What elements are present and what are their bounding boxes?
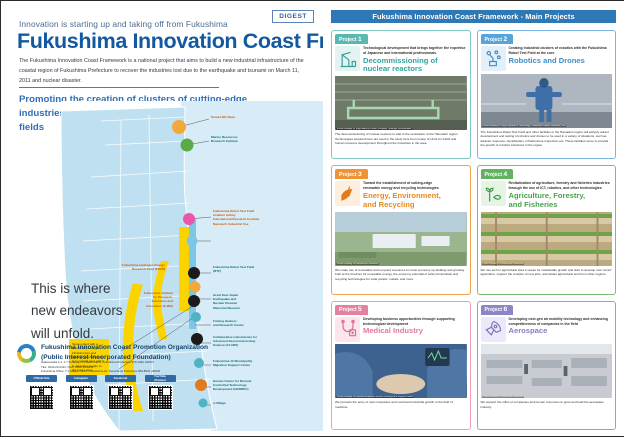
project-description: Developing business opportunities throug… bbox=[363, 317, 467, 327]
map-label: Fukushima 12 Municipality Migration Supp… bbox=[213, 359, 252, 367]
photo-credit: Photo courtesy of Tokyo Electric Power C… bbox=[336, 128, 412, 130]
projects-header: Fukushima Innovation Coast Framework - M… bbox=[331, 10, 616, 23]
sns-button-label[interactable]: YouTube Channel bbox=[145, 375, 176, 382]
project-photo-4: Photo courtesy of Fukushima Prefecture bbox=[481, 212, 613, 266]
project-card-4[interactable]: Project 4 Revitalization of agriculture,… bbox=[477, 165, 617, 294]
map-label: Marine Resources Research Institute bbox=[211, 135, 238, 143]
project-note: We use tech in agricultural sites in are… bbox=[481, 268, 613, 277]
project-note: We promote the entry of new companies an… bbox=[335, 400, 467, 409]
project-field: Medical Industry bbox=[363, 327, 467, 336]
sns-item-facebook[interactable]: Facebook bbox=[105, 375, 136, 410]
project-photo-3: Photo courtesy of Fukushima Prefecture bbox=[335, 212, 467, 266]
project-photo-1: Photo courtesy of Tokyo Electric Power C… bbox=[335, 76, 467, 130]
project-field: Robotics and Drones bbox=[509, 57, 613, 66]
map-label: Great East Japan Earthquake and Nuclear … bbox=[213, 293, 240, 310]
project-note: We make use of renewable and recycled re… bbox=[335, 268, 467, 282]
sns-button-label[interactable]: Facebook bbox=[105, 375, 136, 382]
page-title: Fukushima Innovation Coast Framework bbox=[17, 29, 323, 54]
lede-paragraph: The Fukushima Innovation Coast Framework… bbox=[19, 56, 309, 86]
project-word: Project bbox=[339, 37, 357, 43]
projects-grid: Project 1 Technological development that… bbox=[331, 30, 616, 430]
leaf-energy-icon bbox=[335, 181, 360, 206]
sns-links-row: Official Site Instagram Facebook YouTube… bbox=[26, 375, 176, 410]
project-number: 5 bbox=[358, 306, 362, 313]
qr-code-youtube[interactable] bbox=[148, 385, 173, 410]
sns-item-instagram[interactable]: Instagram bbox=[66, 375, 97, 410]
map-label: Human Center for Remote Controlled Techn… bbox=[213, 379, 251, 392]
kicker-text: Innovation is starting up and taking off… bbox=[19, 19, 228, 29]
digest-badge: DIGEST bbox=[272, 10, 314, 23]
project-tab-2: Project 2 bbox=[481, 34, 514, 44]
map-label: Fukushima Hydrogen Energy Research Field… bbox=[87, 263, 165, 271]
qr-code-facebook[interactable] bbox=[108, 385, 133, 410]
medical-icon bbox=[335, 317, 360, 342]
divider-rule bbox=[19, 87, 219, 88]
project-card-2[interactable]: Project 2 Creating industrial clusters o… bbox=[477, 30, 617, 159]
wheat-fish-icon bbox=[481, 181, 506, 206]
project-field: Agriculture, Forestry, and Fisheries bbox=[509, 192, 613, 209]
project-number: 1 bbox=[358, 36, 362, 43]
photo-credit: Photo courtesy of Fukushima Prefecture bbox=[482, 263, 525, 265]
rocket-icon bbox=[481, 317, 506, 342]
project-note: The decommissioning of nuclear reactors … bbox=[335, 132, 467, 146]
org-logo-icon bbox=[17, 344, 36, 363]
photo-credit: Photo courtesy of Tokyo Institute of Tec… bbox=[482, 125, 567, 127]
project-field: Energy, Environment, and Recycling bbox=[363, 192, 467, 209]
map-label: Collaborative Laboratories for Advanced … bbox=[213, 335, 257, 348]
robot-arm-icon bbox=[481, 46, 506, 71]
sns-button-label[interactable]: Official Site bbox=[26, 375, 57, 382]
project-card-3[interactable]: Project 3 Toward the establishment of cu… bbox=[331, 165, 471, 294]
photo-credit: Photo courtesy of Fukushima Prefecture bbox=[482, 396, 525, 398]
project-number: 3 bbox=[358, 171, 362, 178]
project-tab-3: Project 3 bbox=[335, 169, 368, 179]
project-note: The Fukushima Robot Test Field and other… bbox=[481, 130, 613, 148]
map-label: Fukushima Robot Test Field (RTF) bbox=[213, 265, 254, 273]
project-photo-5: Photo courtesy of Fukushima Medical Devi… bbox=[335, 344, 467, 398]
project-description: Developing next-gen air mobility technol… bbox=[509, 317, 613, 327]
project-number: 6 bbox=[504, 306, 508, 313]
sns-item-official-site[interactable]: Official Site bbox=[26, 375, 57, 410]
sns-button-label[interactable]: Instagram bbox=[66, 375, 97, 382]
project-description: Technological development that brings to… bbox=[363, 46, 467, 56]
project-card-6[interactable]: Project 6 Developing next-gen air mobili… bbox=[477, 301, 617, 430]
project-word: Project bbox=[339, 307, 357, 313]
right-panel: Fukushima Innovation Coast Framework - M… bbox=[323, 1, 624, 436]
project-tab-1: Project 1 bbox=[335, 34, 368, 44]
project-word: Project bbox=[485, 172, 503, 178]
qr-code-instagram[interactable] bbox=[69, 385, 94, 410]
project-number: 2 bbox=[504, 36, 508, 43]
crane-icon bbox=[335, 46, 360, 71]
poster-root: DIGEST Innovation is starting up and tak… bbox=[0, 0, 624, 437]
project-photo-2: Photo courtesy of Tokyo Institute of Tec… bbox=[481, 74, 613, 128]
left-panel: DIGEST Innovation is starting up and tak… bbox=[1, 1, 323, 436]
project-word: Project bbox=[485, 37, 503, 43]
map-label: Soma LNG Base bbox=[211, 115, 235, 119]
map-label: Fukushima Robot Test Field Aviation Airb… bbox=[213, 209, 259, 226]
project-word: Project bbox=[339, 172, 357, 178]
project-description: Creating industrial clusters of robotics… bbox=[509, 46, 613, 56]
photo-credit: Photo courtesy of Fukushima Prefecture bbox=[336, 263, 379, 265]
org-address: Nakanosaka 2-1, 1-7 Futabagun Futaba-mac… bbox=[41, 360, 216, 374]
project-word: Project bbox=[485, 307, 503, 313]
qr-code-official-site[interactable] bbox=[29, 385, 54, 410]
map-label: J-Village bbox=[213, 401, 226, 405]
project-tab-6: Project 6 bbox=[481, 305, 514, 315]
sns-item-youtube[interactable]: YouTube Channel bbox=[145, 375, 176, 410]
project-photo-6: Photo courtesy of Fukushima Prefecture bbox=[481, 344, 613, 398]
project-number: 4 bbox=[504, 171, 508, 178]
project-note: We support the influx of companies and h… bbox=[481, 400, 613, 409]
photo-credit: Photo courtesy of Fukushima Medical Devi… bbox=[336, 396, 414, 398]
project-field: Decommissioning of nuclear reactors bbox=[363, 57, 467, 74]
project-card-5[interactable]: Project 5 Developing business opportunit… bbox=[331, 301, 471, 430]
hero-quote: This is where new endeavors will unfold. bbox=[31, 278, 123, 345]
map-label: Fishing Harbors and Research Center bbox=[213, 319, 244, 327]
project-field: Aerospace bbox=[509, 327, 613, 336]
project-card-1[interactable]: Project 1 Technological development that… bbox=[331, 30, 471, 159]
project-tab-5: Project 5 bbox=[335, 305, 368, 315]
project-tab-4: Project 4 bbox=[481, 169, 514, 179]
